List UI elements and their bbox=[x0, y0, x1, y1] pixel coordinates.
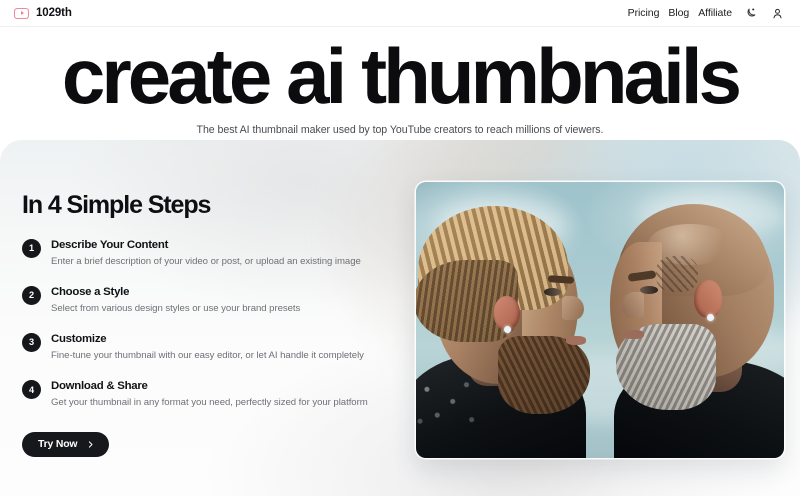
preview-vignette bbox=[416, 182, 784, 458]
step-title: Choose a Style bbox=[51, 285, 300, 299]
try-now-label: Try Now bbox=[38, 439, 77, 450]
step-number-badge: 2 bbox=[22, 286, 41, 305]
step-description: Select from various design styles or use… bbox=[51, 303, 300, 315]
steps-heading: In 4 Simple Steps bbox=[22, 192, 382, 220]
step-description: Get your thumbnail in any format you nee… bbox=[51, 397, 368, 409]
main-nav: Pricing Blog Affiliate bbox=[628, 5, 786, 22]
step-title: Download & Share bbox=[51, 379, 368, 393]
user-icon[interactable] bbox=[769, 5, 786, 22]
hero-subtitle: The best AI thumbnail maker used by top … bbox=[197, 124, 604, 136]
step-title: Describe Your Content bbox=[51, 238, 361, 252]
youtube-play-icon bbox=[14, 8, 29, 19]
nav-link-blog[interactable]: Blog bbox=[668, 7, 689, 19]
try-now-button[interactable]: Try Now bbox=[22, 432, 109, 457]
nav-link-pricing[interactable]: Pricing bbox=[628, 7, 660, 19]
step-title: Customize bbox=[51, 332, 364, 346]
step-description: Fine-tune your thumbnail with our easy e… bbox=[51, 350, 364, 362]
step-item: 1 Describe Your Content Enter a brief de… bbox=[22, 238, 382, 269]
step-number-badge: 3 bbox=[22, 333, 41, 352]
step-number-badge: 4 bbox=[22, 380, 41, 399]
page-title: create ai thumbnails bbox=[62, 37, 738, 117]
step-item: 2 Choose a Style Select from various des… bbox=[22, 285, 382, 316]
steps-list: 1 Describe Your Content Enter a brief de… bbox=[22, 238, 382, 410]
nav-link-affiliate[interactable]: Affiliate bbox=[698, 7, 732, 19]
step-item: 3 Customize Fine-tune your thumbnail wit… bbox=[22, 332, 382, 363]
step-number-badge: 1 bbox=[22, 239, 41, 258]
chevron-right-icon bbox=[86, 440, 95, 449]
step-item: 4 Download & Share Get your thumbnail in… bbox=[22, 379, 382, 410]
site-header: 1029th Pricing Blog Affiliate bbox=[0, 0, 800, 27]
brand-logo[interactable]: 1029th bbox=[14, 7, 72, 19]
thumbnail-preview-card[interactable] bbox=[416, 182, 784, 458]
hero-section: create ai thumbnails The best AI thumbna… bbox=[0, 27, 800, 140]
brand-name: 1029th bbox=[36, 7, 72, 19]
steps-column: In 4 Simple Steps 1 Describe Your Conten… bbox=[22, 192, 382, 457]
step-description: Enter a brief description of your video … bbox=[51, 256, 361, 268]
moon-icon[interactable] bbox=[742, 5, 759, 22]
